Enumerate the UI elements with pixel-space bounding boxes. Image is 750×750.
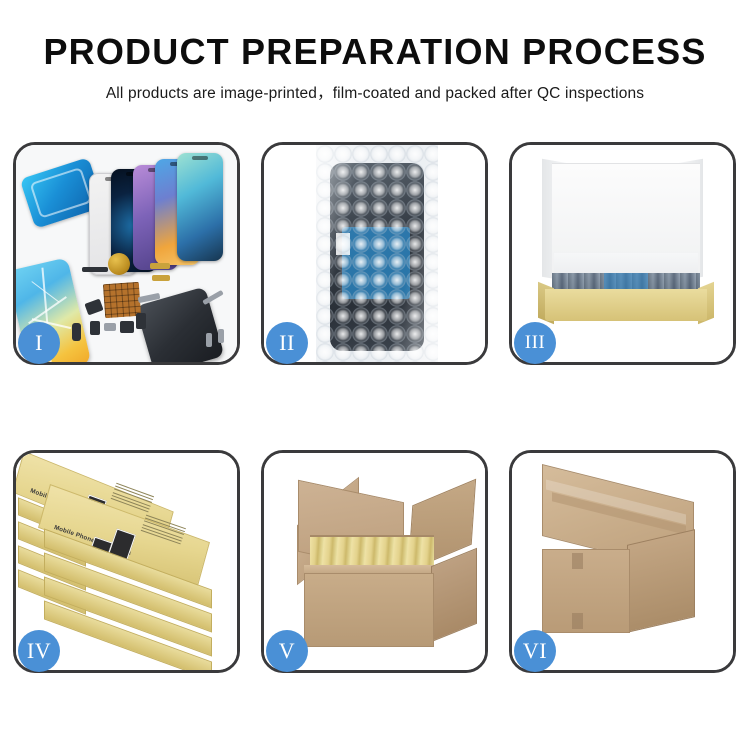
carton-seam <box>572 553 583 569</box>
box-front-wall <box>545 289 707 321</box>
carton-front-face <box>304 573 434 647</box>
step-badge: II <box>266 322 308 364</box>
step-badge: I <box>18 322 60 364</box>
carton-seam <box>572 613 583 629</box>
panel-sealed-carton[interactable]: VI <box>509 450 736 673</box>
step-badge: III <box>514 322 556 364</box>
page-title: PRODUCT PREPARATION PROCESS <box>0 0 750 72</box>
step-badge: IV <box>18 630 60 672</box>
carton-side-face <box>627 529 695 633</box>
panel-stacked-boxes[interactable]: Mobile Phone Spare Parts Mobile Phone Sp… <box>13 450 240 673</box>
process-step-grid: I II <box>13 142 737 673</box>
carton-side-face <box>431 548 477 643</box>
step-badge: VI <box>514 630 556 672</box>
notch-icon <box>192 156 208 160</box>
panel-products[interactable]: I <box>13 142 240 365</box>
panel-inner-box[interactable]: III <box>509 142 736 365</box>
plastic-glare <box>316 145 438 362</box>
panel-bubble-wrap[interactable]: II <box>261 142 488 365</box>
page-subtitle: All products are image-printed，film-coat… <box>0 72 750 103</box>
chip-grid-part <box>103 282 141 318</box>
phone-screen-5 <box>177 153 223 261</box>
panel-open-carton[interactable]: V <box>261 450 488 673</box>
step-badge: V <box>266 630 308 672</box>
page-header: PRODUCT PREPARATION PROCESS All products… <box>0 0 750 103</box>
vibration-motor-part <box>108 253 130 275</box>
carton-front-face <box>542 549 630 633</box>
